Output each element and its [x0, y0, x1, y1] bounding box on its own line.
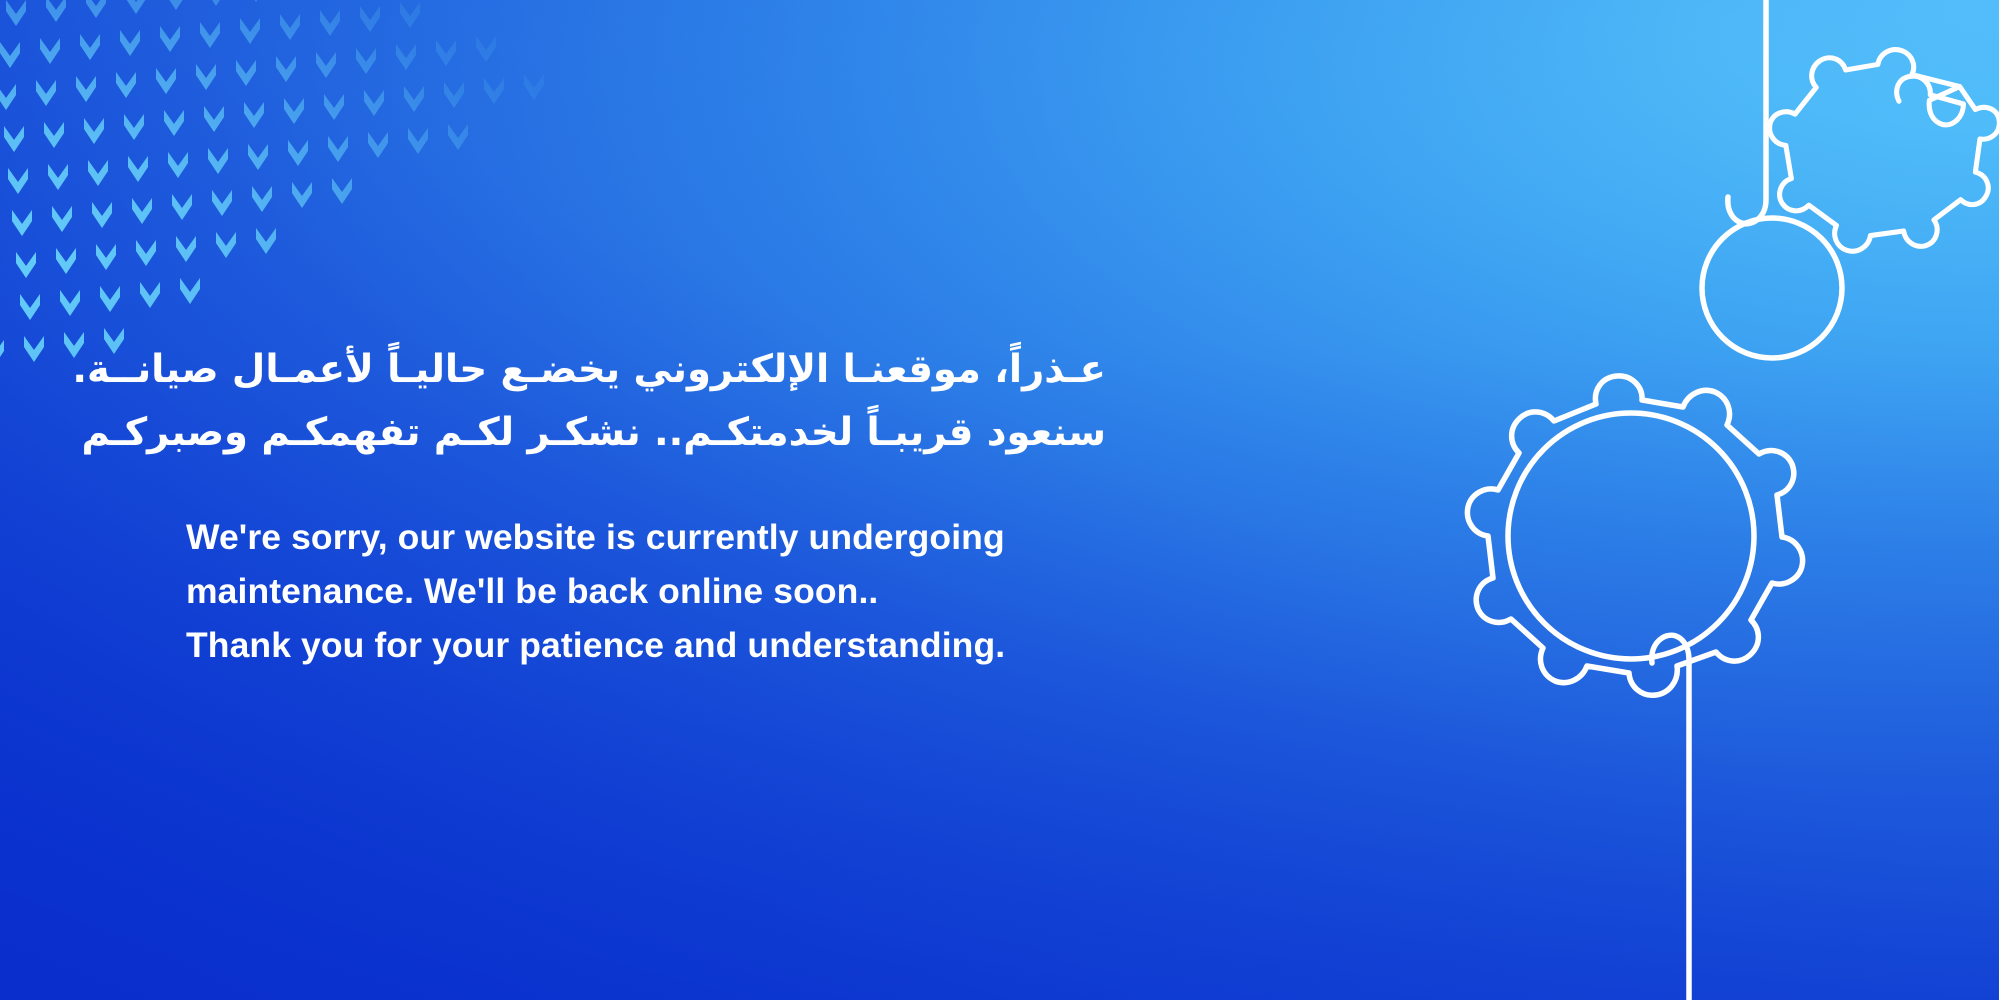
english-message: We're sorry, our website is currently un…: [186, 510, 1186, 672]
english-line-2: maintenance. We'll be back online soon..: [186, 564, 1186, 618]
arabic-line-2: سنعود قريبـاً لخدمتكـم.. نشكـر لكـم تفهم…: [186, 401, 1106, 464]
message-block: عـذراً، موقعنـا الإلكتروني يخضـع حاليـاً…: [186, 338, 1186, 672]
arabic-line-1: عـذراً، موقعنـا الإلكتروني يخضـع حاليـاً…: [186, 338, 1106, 401]
english-line-1: We're sorry, our website is currently un…: [186, 510, 1186, 564]
arabic-message: عـذراً، موقعنـا الإلكتروني يخضـع حاليـاً…: [186, 338, 1106, 464]
maintenance-page: عـذراً، موقعنـا الإلكتروني يخضـع حاليـاً…: [0, 0, 1999, 1000]
english-line-3: Thank you for your patience and understa…: [186, 618, 1186, 672]
